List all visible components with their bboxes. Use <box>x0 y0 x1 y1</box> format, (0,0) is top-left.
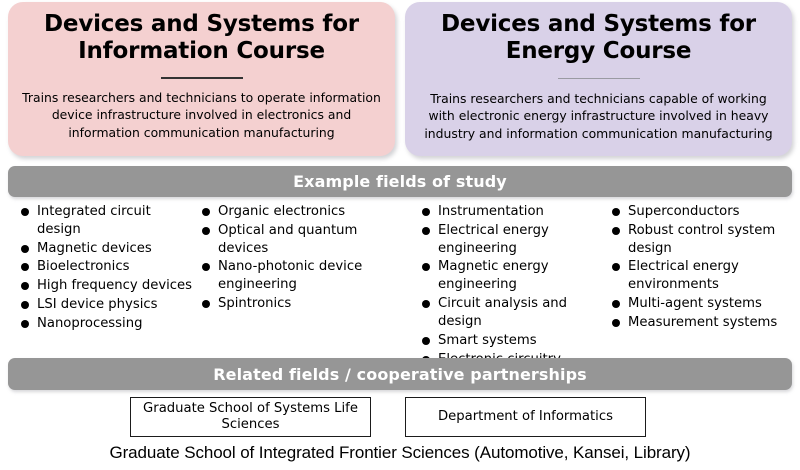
list-item: High frequency devices <box>20 277 195 295</box>
fields-columns: Integrated circuit design Magnetic devic… <box>0 203 800 355</box>
card-divider-information <box>161 77 243 79</box>
list-item: Bioelectronics <box>20 258 195 276</box>
list-item: Robust control system design <box>611 222 797 258</box>
fields-list-4: Superconductors Robust control system de… <box>611 203 797 332</box>
list-item: Superconductors <box>611 203 797 221</box>
list-item: Magnetic energy engineering <box>421 258 601 294</box>
fields-list-1: Integrated circuit design Magnetic devic… <box>20 203 195 333</box>
list-item: Optical and quantum devices <box>201 222 389 258</box>
list-item: LSI device physics <box>20 296 195 314</box>
card-divider-energy <box>558 78 640 79</box>
fields-column-2: Organic electronics Optical and quantum … <box>201 203 389 314</box>
fields-column-3: Instrumentation Electrical energy engine… <box>421 203 601 369</box>
course-card-energy: Devices and Systems for Energy Course Tr… <box>405 2 792 156</box>
footer-caption: Graduate School of Integrated Frontier S… <box>0 443 800 463</box>
partner-boxes: Graduate School of Systems Life Sciences… <box>0 397 800 439</box>
fields-column-1: Integrated circuit design Magnetic devic… <box>20 203 195 334</box>
list-item: Nanoprocessing <box>20 315 195 333</box>
list-item: Electrical energy engineering <box>421 222 601 258</box>
list-item: Organic electronics <box>201 203 389 221</box>
list-item: Nano-photonic device engineering <box>201 258 389 294</box>
course-title-information: Devices and Systems for Information Cour… <box>20 11 383 66</box>
banner-related-fields: Related fields / cooperative partnership… <box>8 358 792 390</box>
list-item: Instrumentation <box>421 203 601 221</box>
course-card-information: Devices and Systems for Information Cour… <box>8 2 395 156</box>
fields-column-4: Superconductors Robust control system de… <box>611 203 797 333</box>
list-item: Magnetic devices <box>20 240 195 258</box>
list-item: Spintronics <box>201 295 389 313</box>
partner-box-department-of-informatics: Department of Informatics <box>405 397 646 437</box>
banner-label-fields: Example fields of study <box>293 172 507 191</box>
list-item: Measurement systems <box>611 314 797 332</box>
banner-label-related: Related fields / cooperative partnership… <box>213 365 587 384</box>
list-item: Integrated circuit design <box>20 203 195 239</box>
list-item: Circuit analysis and design <box>421 295 601 331</box>
list-item: Multi-agent systems <box>611 295 797 313</box>
list-item: Electrical energy environments <box>611 258 797 294</box>
course-description-information: Trains researchers and technicians to op… <box>21 89 383 142</box>
fields-list-2: Organic electronics Optical and quantum … <box>201 203 389 313</box>
course-description-energy: Trains researchers and technicians capab… <box>418 90 780 143</box>
course-cards-row: Devices and Systems for Information Cour… <box>0 0 800 162</box>
banner-example-fields-of-study: Example fields of study <box>8 166 792 197</box>
course-title-energy: Devices and Systems for Energy Course <box>417 11 780 66</box>
fields-list-3: Instrumentation Electrical energy engine… <box>421 203 601 368</box>
list-item: Smart systems <box>421 332 601 350</box>
diagram-canvas: Devices and Systems for Information Cour… <box>0 0 800 470</box>
partner-box-systems-life-sciences: Graduate School of Systems Life Sciences <box>130 397 371 437</box>
